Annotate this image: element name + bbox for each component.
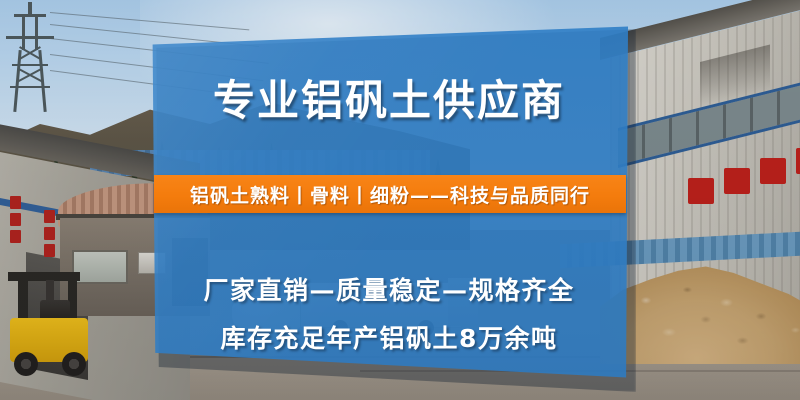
orange-ribbon-bar: 铝矾土熟料丨骨料丨细粉——科技与品质同行 <box>154 175 626 213</box>
subheadline-primary: 厂家直销—质量稳定—规格齐全 <box>150 271 628 307</box>
banner-content: 专业铝矾土供应商 铝矾土熟料丨骨料丨细粉——科技与品质同行 厂家直销—质量稳定—… <box>150 18 628 386</box>
ribbon-tagline: 铝矾土熟料丨骨料丨细粉——科技与品质同行 <box>190 181 590 208</box>
bauxite-supplier-hero-banner: 专业铝矾土供应商 铝矾土熟料丨骨料丨细粉——科技与品质同行 厂家直销—质量稳定—… <box>0 0 800 400</box>
page-title: 专业铝矾土供应商 <box>150 80 628 122</box>
subheadline-secondary: 库存充足年产铝矾土8万余吨 <box>150 319 628 355</box>
